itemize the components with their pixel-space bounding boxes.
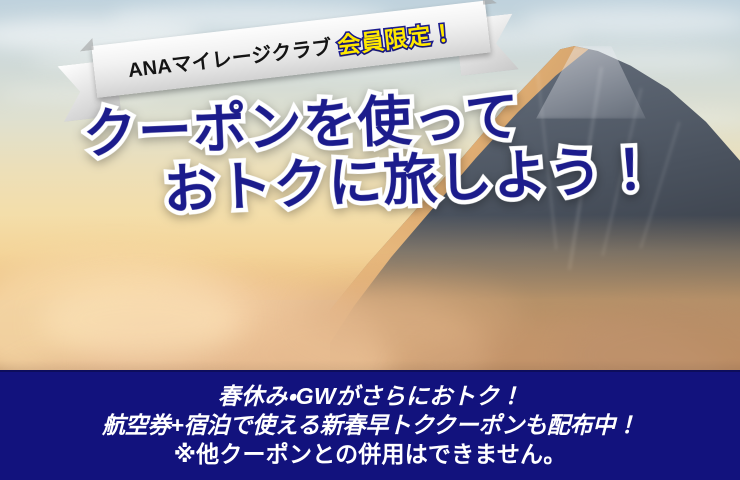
footer-line-1: 春休み・GWがさらにおトク！ bbox=[218, 382, 523, 411]
ribbon-brand-label: ANAマイレージクラブ bbox=[126, 30, 333, 82]
cloud-puff-icon bbox=[300, 280, 520, 350]
ribbon-members-only-badge: 会員限定！ bbox=[336, 13, 457, 60]
cloud-puff-icon bbox=[40, 280, 240, 360]
footer-disclaimer: ※他クーポンとの併用はできません。 bbox=[174, 440, 567, 470]
footer-message-bar: 春休み・GWがさらにおトク！ 航空券+宿泊で使える新春早トククーポンも配布中！ … bbox=[0, 370, 740, 480]
promo-banner[interactable]: ANAマイレージクラブ 会員限定！ クーポンを使って おトクに旅しよう！ 春休み… bbox=[0, 0, 740, 480]
cloud-streak-icon bbox=[520, 6, 740, 36]
footer-line-2: 航空券+宿泊で使える新春早トククーポンも配布中！ bbox=[102, 411, 638, 440]
